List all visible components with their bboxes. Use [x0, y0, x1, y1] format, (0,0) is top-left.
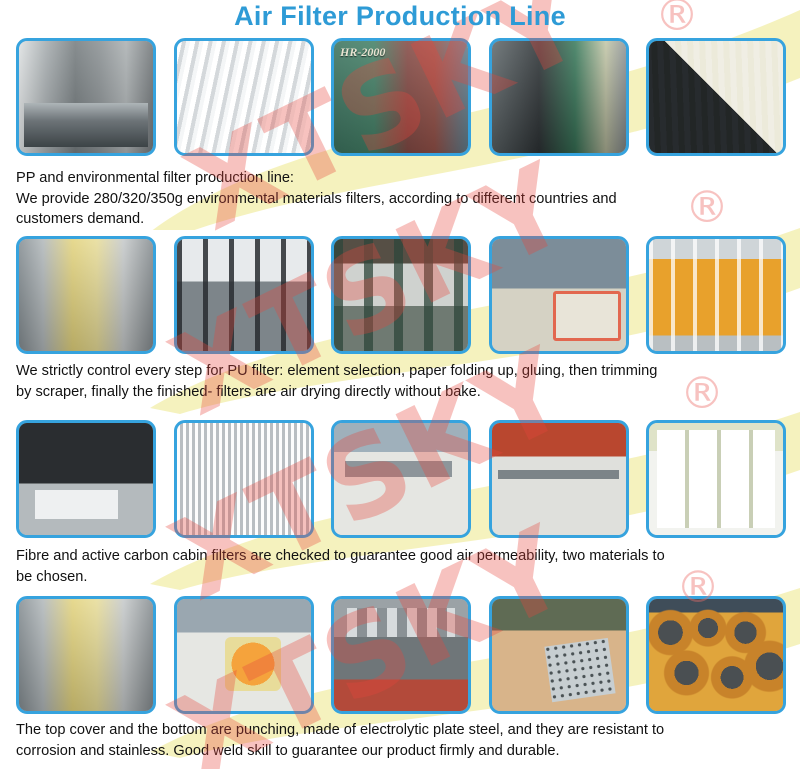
caption-pp-environmental: PP and environmental filter production l…	[16, 168, 792, 230]
photo-image	[334, 239, 468, 351]
photo-image	[492, 41, 626, 153]
photo-image	[19, 41, 153, 153]
page-title: Air Filter Production Line	[0, 1, 800, 32]
caption-line: customers demand.	[16, 209, 792, 230]
machine-model-label: HR-2000	[340, 45, 385, 60]
section-cabin-filter: Fibre and active carbon cabin filters ar…	[0, 420, 800, 572]
photo-punching-lathe-machine[interactable]	[331, 596, 471, 714]
photo-row	[16, 236, 786, 354]
photo-image	[492, 423, 626, 535]
photo-image	[19, 423, 153, 535]
caption-cabin-filter: Fibre and active carbon cabin filters ar…	[16, 546, 792, 587]
caption-line: We provide 280/320/350g environmental ma…	[16, 189, 792, 210]
caption-line: PP and environmental filter production l…	[16, 168, 792, 189]
caption-line: corrosion and stainless. Good weld skill…	[16, 741, 792, 762]
photo-image	[649, 239, 783, 351]
photo-image	[649, 423, 783, 535]
photo-image	[649, 41, 783, 153]
photo-moulding-machine[interactable]	[489, 38, 629, 156]
photo-worker-trimming-panel[interactable]	[489, 420, 629, 538]
section-pp-environmental: HR-2000 PP and environmental filter prod…	[0, 38, 800, 190]
photo-image	[177, 41, 311, 153]
caption-line: The top cover and the bottom are punchin…	[16, 720, 792, 741]
caption-line: be chosen.	[16, 567, 792, 588]
photo-clamping-jigs-line[interactable]	[174, 236, 314, 354]
photo-worker-gluing-frame[interactable]	[489, 236, 629, 354]
photo-stacked-white-filter-blocks[interactable]	[646, 420, 786, 538]
photo-image	[177, 423, 311, 535]
photo-fine-pleated-cabin-media[interactable]	[174, 420, 314, 538]
photo-image	[177, 239, 311, 351]
photo-row	[16, 420, 786, 538]
photo-white-pleated-media[interactable]	[174, 38, 314, 156]
photo-image	[19, 599, 153, 711]
photo-yellow-media-rolling[interactable]	[16, 236, 156, 354]
photo-assembly-benches[interactable]	[331, 236, 471, 354]
caption-pu-filter: We strictly control every step for PU fi…	[16, 361, 792, 402]
photo-row: HR-2000	[16, 38, 786, 156]
photo-image	[492, 599, 626, 711]
photo-image	[649, 599, 783, 711]
photo-row	[16, 596, 786, 714]
photo-image	[177, 599, 311, 711]
photo-plastic-frames-and-panel-filter[interactable]	[646, 38, 786, 156]
photo-hands-with-perforated-mesh[interactable]	[489, 596, 629, 714]
section-top-cover-bottom: The top cover and the bottom are punchin…	[0, 596, 800, 748]
caption-line: by scraper, finally the finished- filter…	[16, 382, 792, 403]
photo-image	[492, 239, 626, 351]
photo-worker-wrapping-element[interactable]	[174, 596, 314, 714]
photo-image	[334, 423, 468, 535]
photo-yellow-media-rolling-2[interactable]	[16, 596, 156, 714]
photo-cutting-machine[interactable]	[16, 38, 156, 156]
photo-image	[334, 599, 468, 711]
caption-line: Fibre and active carbon cabin filters ar…	[16, 546, 792, 567]
photo-orange-pu-frames-rack[interactable]	[646, 236, 786, 354]
photo-green-press-machine[interactable]: HR-2000	[331, 38, 471, 156]
photo-image	[19, 239, 153, 351]
photo-cutting-press-machine[interactable]	[16, 420, 156, 538]
section-pu-filter: We strictly control every step for PU fi…	[0, 236, 800, 388]
photo-finished-air-filter-cartridges[interactable]	[646, 596, 786, 714]
caption-line: We strictly control every step for PU fi…	[16, 361, 792, 382]
caption-top-cover-bottom: The top cover and the bottom are punchin…	[16, 720, 792, 761]
photo-worker-checking-panel[interactable]	[331, 420, 471, 538]
